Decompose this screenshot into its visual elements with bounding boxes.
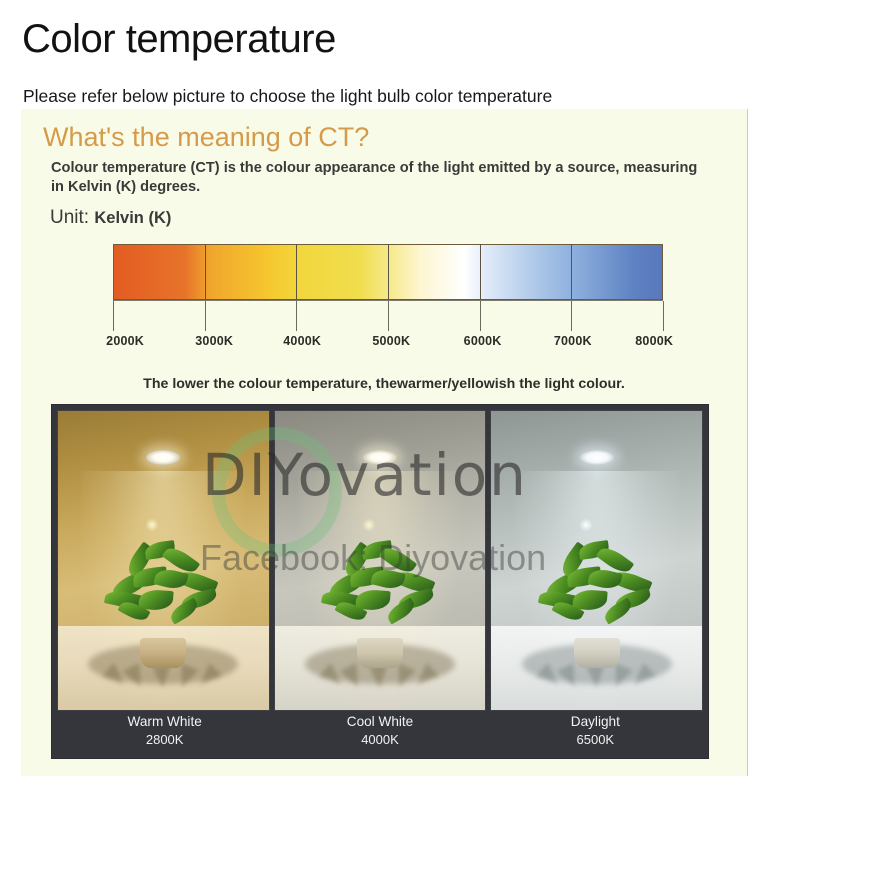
wall-glow (580, 519, 592, 531)
scale-tick-label-5000k: 5000K (372, 334, 410, 348)
plant-leaves (320, 538, 440, 634)
panel-caption-kelvin: 4000K (272, 731, 487, 749)
scale-tick-label-6000k: 6000K (464, 334, 502, 348)
scale-divider (296, 244, 297, 300)
unit-line: Unit: Kelvin (K) (50, 207, 171, 229)
color-temperature-infographic: What's the meaning of CT? Colour tempera… (21, 109, 748, 776)
potted-plant (320, 538, 440, 668)
plant-pot (574, 638, 620, 668)
page-subtitle: Please refer below picture to choose the… (23, 86, 552, 107)
potted-plant (103, 538, 223, 668)
unit-label: Unit: (50, 207, 89, 228)
plant-shadow-spike (369, 666, 388, 689)
scale-tick-label-2000k: 2000K (106, 334, 144, 348)
scale-tick-label-7000k: 7000K (554, 334, 592, 348)
scale-tick-label-4000k: 4000K (283, 334, 321, 348)
unit-value: Kelvin (K) (94, 209, 171, 227)
infographic-heading: What's the meaning of CT? (43, 122, 369, 153)
room-panel-daylight (490, 410, 703, 711)
plant-leaves (103, 538, 223, 634)
plant-shadow-spike (586, 666, 605, 689)
room-comparison-block: DIYovation Facebook: Diyovation Warm Whi… (51, 404, 709, 759)
scale-tick (296, 301, 297, 331)
plant-pot (357, 638, 403, 668)
scale-tick-label-3000k: 3000K (195, 334, 233, 348)
room-panel-cool-white (274, 410, 487, 711)
scale-divider (571, 244, 572, 300)
room-panels (57, 410, 703, 711)
plant-pot (140, 638, 186, 668)
scale-tick (205, 301, 206, 331)
scale-caption: The lower the colour temperature, thewar… (21, 376, 747, 392)
panel-caption-daylight: Daylight 6500K (488, 709, 703, 755)
panel-caption-kelvin: 2800K (57, 731, 272, 749)
scale-divider (205, 244, 206, 300)
plant-shadow-spike (153, 666, 172, 689)
scale-tick (480, 301, 481, 331)
infographic-body-text: Colour temperature (CT) is the colour ap… (51, 159, 711, 198)
downlight-icon (580, 450, 614, 465)
scale-tick (113, 301, 114, 331)
downlight-icon (146, 450, 180, 465)
panel-caption-kelvin: 6500K (488, 731, 703, 749)
downlight-icon (363, 450, 397, 465)
room-panel-warm-white (57, 410, 270, 711)
scale-tick (388, 301, 389, 331)
scale-tick (571, 301, 572, 331)
panel-caption-cool-white: Cool White 4000K (272, 709, 487, 755)
panel-caption-name: Warm White (57, 712, 272, 731)
scale-tick-label-8000k: 8000K (635, 334, 673, 348)
panel-caption-warm-white: Warm White 2800K (57, 709, 272, 755)
scale-divider (388, 244, 389, 300)
panel-caption-name: Cool White (272, 712, 487, 731)
panel-caption-name: Daylight (488, 712, 703, 731)
scale-tick (663, 301, 664, 331)
scale-divider (480, 244, 481, 300)
kelvin-scale: 2000K 3000K 4000K 5000K 6000K 7000K 8000… (113, 244, 663, 364)
plant-leaves (537, 538, 657, 634)
potted-plant (537, 538, 657, 668)
page-title: Color temperature (22, 18, 336, 60)
panel-captions: Warm White 2800K Cool White 4000K Daylig… (57, 709, 703, 755)
wall-glow (363, 519, 375, 531)
